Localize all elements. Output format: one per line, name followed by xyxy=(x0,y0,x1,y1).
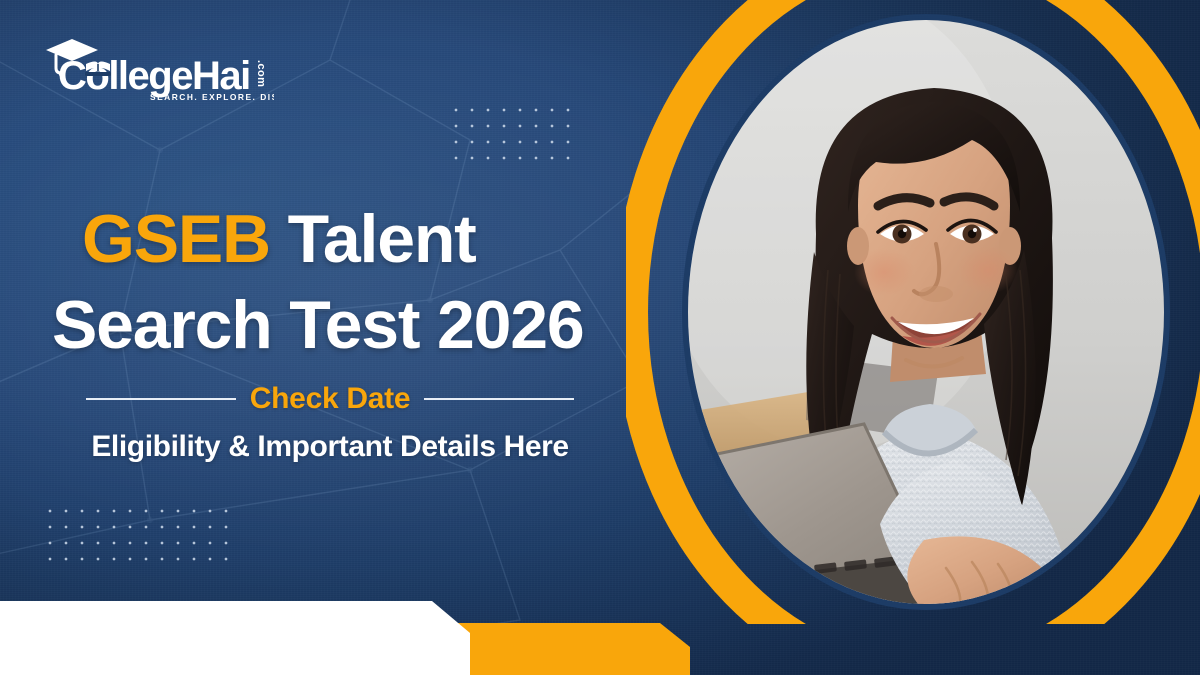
student-photo xyxy=(688,20,1164,604)
rule-left-decoration xyxy=(86,398,236,400)
subtitle-group: Check Date Eligibility & Important Detai… xyxy=(0,382,660,464)
rule-right-decoration xyxy=(424,398,574,400)
logo-tagline-alt: SEARCH. EXPLORE. DISCOVER. xyxy=(274,36,275,37)
logo-tld-text: .com xyxy=(255,60,267,87)
student-photo-illustration xyxy=(688,20,1164,604)
headline-accent-word: GSEB xyxy=(82,201,270,277)
check-date-label: Check Date xyxy=(250,382,410,416)
logo-wordmark-text: CollegeHai xyxy=(274,36,275,37)
check-date-row: Check Date xyxy=(0,382,660,416)
headline-line-1: GSEB Talent xyxy=(82,196,662,282)
logo-tagline-text: SEARCH. EXPLORE. DISCOVER. xyxy=(150,92,274,102)
headline-line-1-rest: Talent xyxy=(270,201,476,277)
collegehai-logo[interactable]: College Hai .com SEARCH. EXPLORE. DISCOV… xyxy=(42,36,274,102)
subtitle-details-label: Eligibility & Important Details Here xyxy=(0,430,660,464)
logo-tld-alt: .com xyxy=(274,36,275,37)
headline-line-2: Search Test 2026 xyxy=(52,282,662,368)
bottom-shapes-group xyxy=(0,555,1200,675)
collegehai-logo-mark: College Hai .com SEARCH. EXPLORE. DISCOV… xyxy=(42,36,274,102)
white-bottom-panel xyxy=(0,601,470,675)
promo-banner: College Hai .com SEARCH. EXPLORE. DISCOV… xyxy=(0,0,1200,675)
headline-group: GSEB Talent Search Test 2026 xyxy=(82,196,662,368)
